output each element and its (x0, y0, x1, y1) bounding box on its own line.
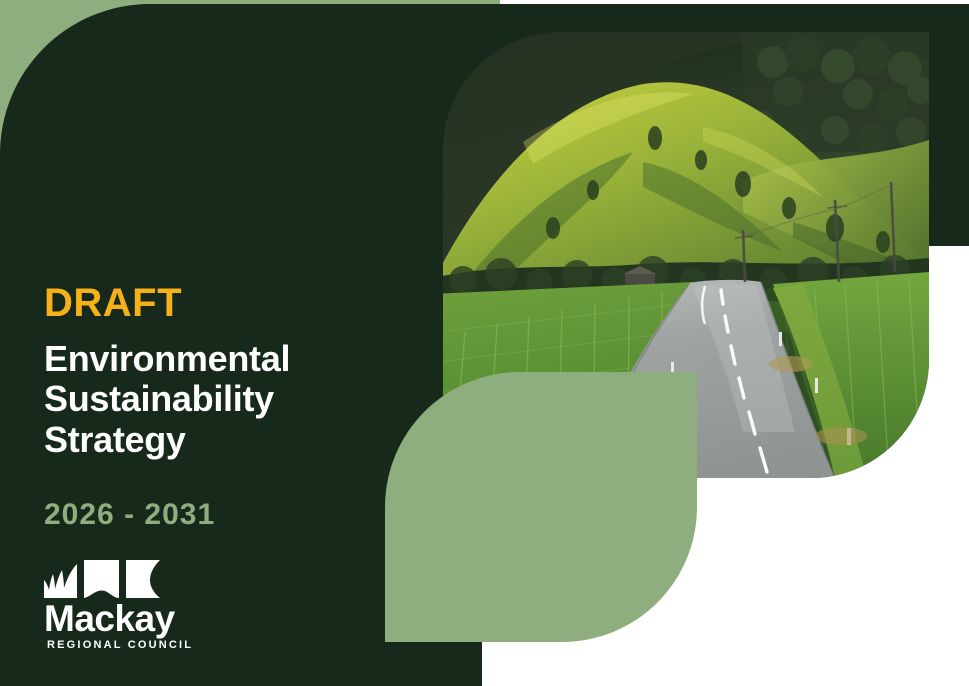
document-cover: DRAFT Environmental Sustainability Strat… (0, 0, 969, 686)
mackay-regional-council-logo: Mackay REGIONAL COUNCIL (44, 560, 204, 651)
logo-tiles-icon (44, 560, 160, 598)
page-title: Environmental Sustainability Strategy (44, 339, 424, 460)
title-line-2: Sustainability (44, 379, 424, 419)
logo-tagline: REGIONAL COUNCIL (47, 639, 204, 651)
title-line-1: Environmental (44, 339, 424, 379)
cover-text-block: DRAFT Environmental Sustainability Strat… (44, 283, 424, 532)
logo-wordmark: Mackay (44, 600, 204, 637)
draft-status-label: DRAFT (44, 283, 424, 323)
strategy-period: 2026 - 2031 (44, 498, 424, 532)
title-line-3: Strategy (44, 420, 424, 460)
hills-tile-icon (84, 560, 119, 598)
leaf-tile-icon (126, 560, 160, 598)
sage-leaf-shape (385, 372, 697, 642)
cane-tile-icon (44, 564, 77, 598)
